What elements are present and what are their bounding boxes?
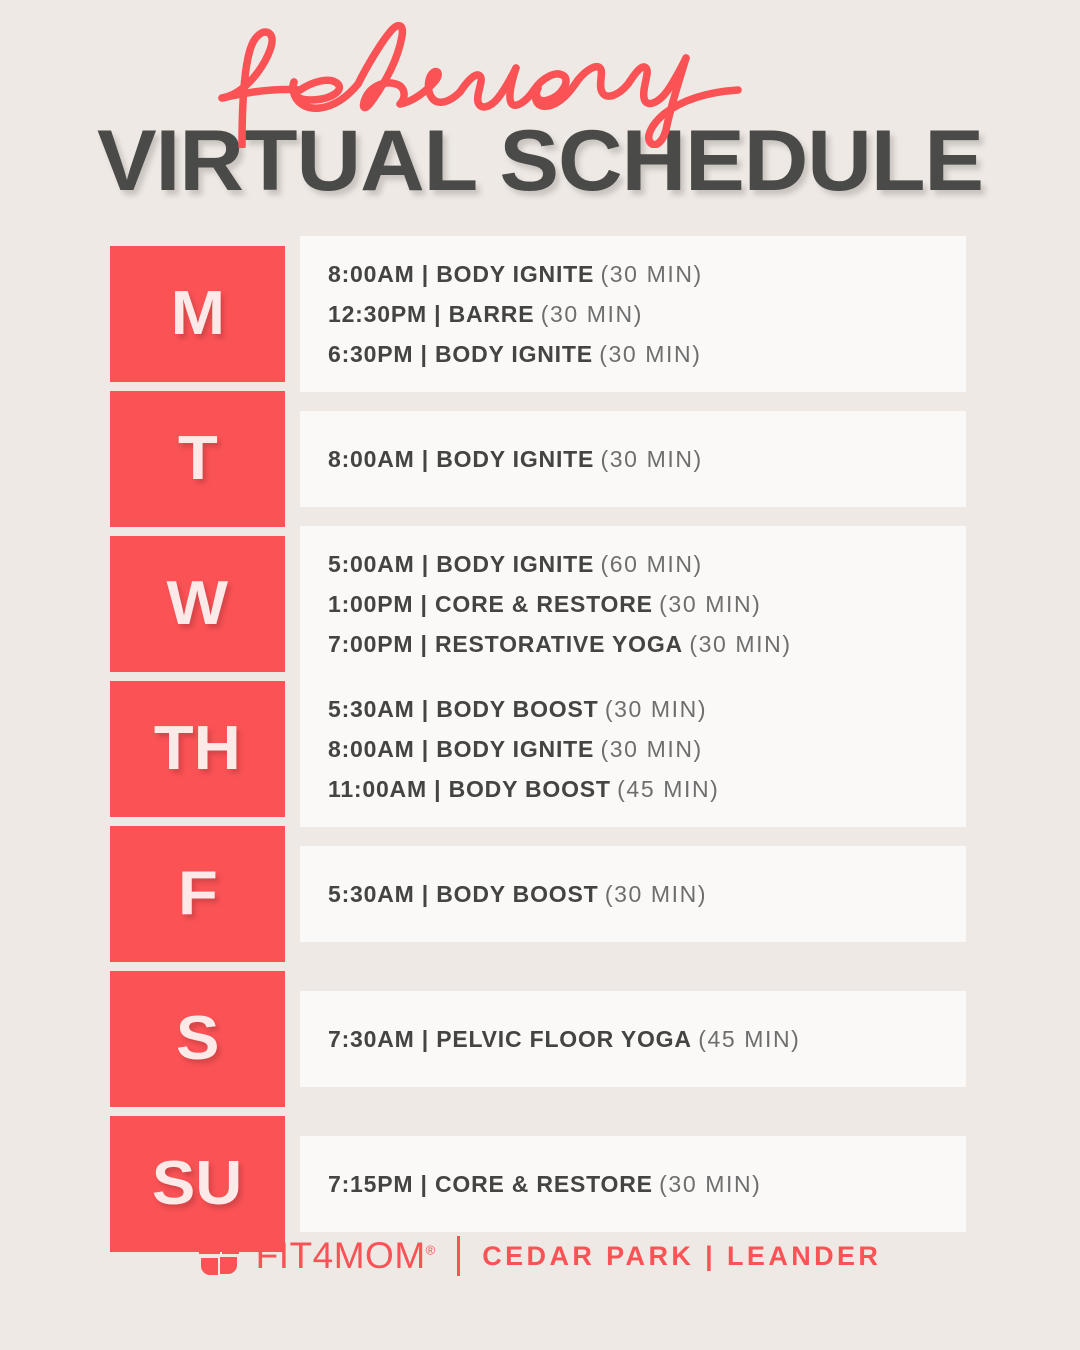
day-badge-sunday: SU [110, 1116, 285, 1252]
registered-mark: ® [426, 1243, 436, 1258]
day-abbr: TH [154, 718, 241, 780]
day-abbr: T [178, 428, 218, 490]
classes-card: 7:30AM | PELVIC FLOOR YOGA (45 MIN) [300, 991, 966, 1087]
class-name: CORE & RESTORE [435, 1171, 653, 1197]
class-duration: (30 MIN) [605, 696, 707, 722]
classes-wrap: 7:30AM | PELVIC FLOOR YOGA (45 MIN) [300, 971, 966, 1107]
class-time: 1:00PM [328, 591, 413, 617]
schedule-list: M 8:00AM | BODY IGNITE (30 MIN) 12:30PM … [110, 246, 966, 1261]
class-name: BODY IGNITE [436, 446, 594, 472]
class-item: 1:00PM | CORE & RESTORE (30 MIN) [328, 584, 966, 624]
class-name: BODY BOOST [436, 696, 598, 722]
day-abbr: M [170, 283, 224, 345]
class-name: PELVIC FLOOR YOGA [436, 1026, 692, 1052]
class-item: 5:30AM | BODY BOOST (30 MIN) [328, 874, 966, 914]
schedule-row-tuesday: T 8:00AM | BODY IGNITE (30 MIN) [110, 391, 966, 527]
classes-wrap: 5:00AM | BODY IGNITE (60 MIN) 1:00PM | C… [300, 536, 966, 672]
classes-card: 7:15PM | CORE & RESTORE (30 MIN) [300, 1136, 966, 1232]
classes-wrap: 5:30AM | BODY BOOST (30 MIN) 8:00AM | BO… [300, 681, 966, 817]
class-name: BARRE [449, 301, 535, 327]
class-duration: (30 MIN) [659, 591, 761, 617]
class-duration: (30 MIN) [605, 881, 707, 907]
schedule-row-monday: M 8:00AM | BODY IGNITE (30 MIN) 12:30PM … [110, 246, 966, 382]
day-badge-saturday: S [110, 971, 285, 1107]
class-time: 11:00AM [328, 776, 427, 802]
classes-wrap: 5:30AM | BODY BOOST (30 MIN) [300, 826, 966, 962]
day-badge-thursday: TH [110, 681, 285, 817]
classes-wrap: 8:00AM | BODY IGNITE (30 MIN) [300, 391, 966, 527]
class-duration: (30 MIN) [541, 301, 643, 327]
classes-card: 5:00AM | BODY IGNITE (60 MIN) 1:00PM | C… [300, 526, 966, 682]
class-duration: (30 MIN) [599, 341, 701, 367]
schedule-row-thursday: TH 5:30AM | BODY BOOST (30 MIN) 8:00AM |… [110, 681, 966, 817]
class-duration: (45 MIN) [698, 1026, 800, 1052]
brand-text: FIT4MOM [256, 1235, 426, 1276]
class-duration: (30 MIN) [601, 736, 703, 762]
fit4mom-flower-icon [199, 1233, 245, 1279]
day-badge-monday: M [110, 246, 285, 382]
classes-wrap: 7:15PM | CORE & RESTORE (30 MIN) [300, 1116, 966, 1252]
class-time: 7:15PM [328, 1171, 413, 1197]
day-badge-tuesday: T [110, 391, 285, 527]
classes-wrap: 8:00AM | BODY IGNITE (30 MIN) 12:30PM | … [300, 246, 966, 382]
class-name: BODY BOOST [449, 776, 611, 802]
schedule-row-sunday: SU 7:15PM | CORE & RESTORE (30 MIN) [110, 1116, 966, 1252]
class-name: BODY IGNITE [436, 261, 594, 287]
schedule-row-wednesday: W 5:00AM | BODY IGNITE (60 MIN) 1:00PM |… [110, 536, 966, 672]
footer-divider [457, 1236, 460, 1276]
class-time: 5:30AM [328, 696, 415, 722]
class-time: 8:00AM [328, 736, 415, 762]
classes-card: 5:30AM | BODY BOOST (30 MIN) [300, 846, 966, 942]
class-item: 8:00AM | BODY IGNITE (30 MIN) [328, 729, 966, 769]
class-duration: (45 MIN) [617, 776, 719, 802]
class-duration: (30 MIN) [601, 446, 703, 472]
class-name: RESTORATIVE YOGA [435, 631, 683, 657]
footer-locations: CEDAR PARK | LEANDER [482, 1241, 881, 1272]
class-item: 6:30PM | BODY IGNITE (30 MIN) [328, 334, 966, 374]
class-item: 8:00AM | BODY IGNITE (30 MIN) [328, 254, 966, 294]
class-name: BODY IGNITE [436, 551, 594, 577]
day-abbr: F [178, 863, 218, 925]
header: VIRTUAL SCHEDULE [0, 0, 1080, 230]
class-time: 5:30AM [328, 881, 415, 907]
class-item: 7:30AM | PELVIC FLOOR YOGA (45 MIN) [328, 1019, 966, 1059]
class-time: 7:00PM [328, 631, 413, 657]
day-badge-friday: F [110, 826, 285, 962]
class-item: 7:15PM | CORE & RESTORE (30 MIN) [328, 1164, 966, 1204]
day-abbr: S [176, 1008, 219, 1070]
class-name: BODY IGNITE [435, 341, 593, 367]
class-duration: (30 MIN) [689, 631, 791, 657]
class-duration: (30 MIN) [601, 261, 703, 287]
classes-card: 5:30AM | BODY BOOST (30 MIN) 8:00AM | BO… [300, 671, 966, 827]
class-duration: (30 MIN) [659, 1171, 761, 1197]
day-abbr: SU [152, 1153, 242, 1215]
schedule-row-friday: F 5:30AM | BODY BOOST (30 MIN) [110, 826, 966, 962]
class-item: 5:30AM | BODY BOOST (30 MIN) [328, 689, 966, 729]
class-time: 6:30PM [328, 341, 413, 367]
class-item: 7:00PM | RESTORATIVE YOGA (30 MIN) [328, 624, 966, 664]
class-item: 11:00AM | BODY BOOST (45 MIN) [328, 769, 966, 809]
class-item: 12:30PM | BARRE (30 MIN) [328, 294, 966, 334]
class-name: CORE & RESTORE [435, 591, 653, 617]
day-abbr: W [167, 573, 228, 635]
brand-name: FIT4MOM® [256, 1235, 436, 1277]
day-badge-wednesday: W [110, 536, 285, 672]
schedule-row-saturday: S 7:30AM | PELVIC FLOOR YOGA (45 MIN) [110, 971, 966, 1107]
class-time: 8:00AM [328, 261, 415, 287]
class-time: 12:30PM [328, 301, 427, 327]
footer: FIT4MOM® CEDAR PARK | LEANDER [0, 1233, 1080, 1279]
class-time: 8:00AM [328, 446, 415, 472]
class-time: 7:30AM [328, 1026, 415, 1052]
class-name: BODY BOOST [436, 881, 598, 907]
page-title: VIRTUAL SCHEDULE [0, 118, 1080, 204]
class-name: BODY IGNITE [436, 736, 594, 762]
class-time: 5:00AM [328, 551, 415, 577]
classes-card: 8:00AM | BODY IGNITE (30 MIN) 12:30PM | … [300, 236, 966, 392]
class-duration: (60 MIN) [601, 551, 703, 577]
classes-card: 8:00AM | BODY IGNITE (30 MIN) [300, 411, 966, 507]
class-item: 5:00AM | BODY IGNITE (60 MIN) [328, 544, 966, 584]
class-item: 8:00AM | BODY IGNITE (30 MIN) [328, 439, 966, 479]
